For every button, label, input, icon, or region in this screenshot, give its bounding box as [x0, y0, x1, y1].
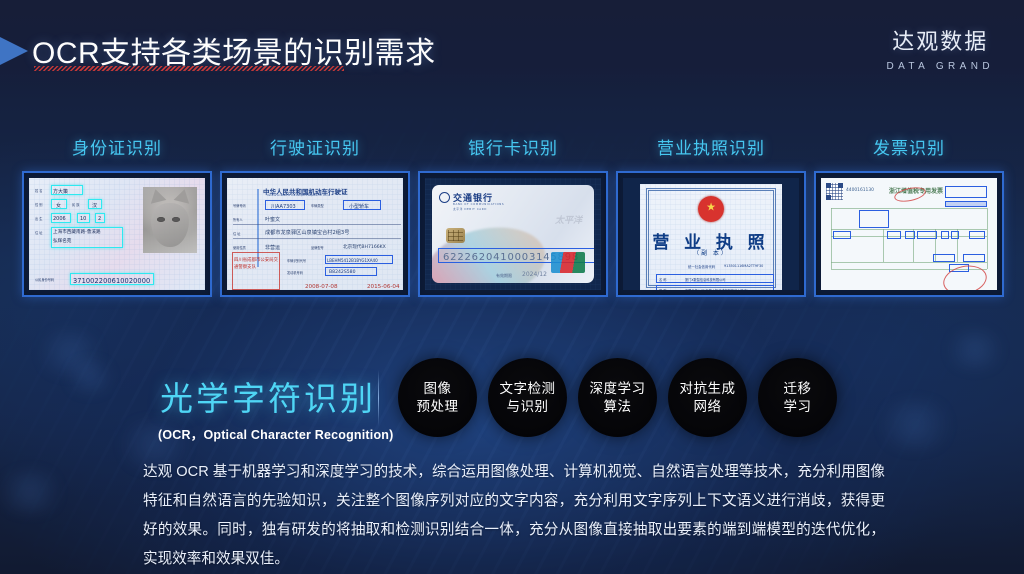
tech-circle-deep-learning[interactable]: 深度学习 算法 [578, 358, 657, 437]
description-paragraph: 达观 OCR 基于机器学习和深度学习的技术，综合运用图像处理、计算机视觉、自然语… [143, 458, 885, 574]
doc-vehicle-license: 中华人民共和国机动车行驶证 Vehicle License of the Peo… [227, 178, 403, 290]
bg-blob [870, 400, 960, 450]
tech-circle-text-detection[interactable]: 文字检测 与识别 [488, 358, 567, 437]
circle-line-2: 学习 [784, 398, 812, 416]
chip-icon [446, 228, 465, 243]
card-brand-art: 太平洋 [555, 213, 582, 226]
circle-line-1: 文字检测 [500, 380, 556, 398]
card-label: 银行卡识别 [418, 134, 608, 160]
card-bank-card[interactable]: 银行卡识别 交通银行 BANK OF COMMUNICATIONS 太平洋 DE… [418, 134, 608, 297]
tech-circle-image-preprocessing[interactable]: 图像 预处理 [398, 358, 477, 437]
slide-canvas: OCR支持各类场景的识别需求 达观数据 DATA GRAND 身份证识别 [0, 0, 1024, 574]
vertical-divider [378, 370, 379, 426]
expiry-value: 2024/12 [522, 271, 547, 278]
card-frame: 营 业 执 照 （副 本） 统一社会信用代码 913501116MA2TT9F3… [616, 171, 806, 297]
card-id-card[interactable]: 身份证识别 姓 名 方大策 性 别 [22, 134, 212, 297]
triangle-marker-icon [0, 36, 28, 66]
tech-circle-gan[interactable]: 对抗生成 网络 [668, 358, 747, 437]
card-frame: 4400161130 浙江增值税专用发票 [814, 171, 1004, 297]
card-label: 行驶证识别 [220, 134, 410, 160]
tech-circle-transfer-learning[interactable]: 迁移 学习 [758, 358, 837, 437]
circle-line-2: 算法 [590, 398, 646, 416]
circle-line-1: 图像 [417, 380, 459, 398]
id-number-value: 371002200610020000 [73, 277, 150, 285]
card-label: 发票识别 [814, 134, 1004, 160]
scenario-cards: 身份证识别 姓 名 方大策 性 别 [0, 134, 1024, 314]
card-business-license[interactable]: 营业执照识别 营 业 执 照 （副 本） 统一社会信用代码 913501116M… [616, 134, 806, 297]
logo-text-en: DATA GRAND [886, 61, 994, 72]
ocr-subtitle: (OCR，Optical Character Recognition) [158, 424, 394, 443]
card-label: 身份证识别 [22, 134, 212, 160]
card-label: 营业执照识别 [616, 134, 806, 160]
card-frame: 交通银行 BANK OF COMMUNICATIONS 太平洋 DEBIT CA… [418, 171, 608, 297]
circle-line-1: 迁移 [784, 380, 812, 398]
reg-code-label: 统一社会信用代码 [688, 264, 715, 269]
tech-circle-list: 图像 预处理 文字检测 与识别 深度学习 算法 对抗生成 网络 迁移 学习 [398, 358, 837, 437]
ocr-title: 光学字符识别 [160, 372, 376, 420]
title-underline [34, 66, 344, 71]
doc-invoice: 4400161130 浙江增值税专用发票 [821, 178, 997, 290]
id-photo [143, 187, 197, 253]
card-vehicle-license[interactable]: 行驶证识别 中华人民共和国机动车行驶证 Vehicle License of t… [220, 134, 410, 297]
bank-logo-icon [439, 192, 450, 203]
qr-code-icon [826, 183, 843, 200]
bg-blob [940, 330, 1010, 370]
card-invoice[interactable]: 发票识别 4400161130 浙江增值税专用发票 [814, 134, 1004, 297]
circle-line-1: 深度学习 [590, 380, 646, 398]
license-subtitle: （副 本） [640, 248, 782, 257]
seal-text: 四川省成都市公安局交通警察支队 [234, 258, 278, 271]
brand-logo: 达观数据 DATA GRAND [886, 24, 994, 72]
doc-title-en: Vehicle License of the People's Republic… [267, 194, 330, 197]
invoice-code: 4400161130 [846, 188, 874, 193]
national-emblem-icon [698, 196, 724, 222]
doc-business-license: 营 业 执 照 （副 本） 统一社会信用代码 913501116MA2TT9F3… [623, 178, 799, 290]
slide-header: OCR支持各类场景的识别需求 达观数据 DATA GRAND [0, 0, 1024, 96]
card-type: 太平洋 DEBIT CARD [453, 207, 487, 211]
bg-blob [60, 360, 120, 394]
doc-bank-card: 交通银行 BANK OF COMMUNICATIONS 太平洋 DEBIT CA… [425, 178, 601, 290]
unionpay-logo-icon [551, 252, 585, 273]
circle-line-1: 对抗生成 [680, 380, 736, 398]
circle-line-2: 网络 [680, 398, 736, 416]
card-frame: 中华人民共和国机动车行驶证 Vehicle License of the Peo… [220, 171, 410, 297]
circle-line-2: 预处理 [417, 398, 459, 416]
logo-text-cn: 达观数据 [886, 24, 994, 56]
circle-line-2: 与识别 [500, 398, 556, 416]
bank-name-en: BANK OF COMMUNICATIONS [453, 202, 504, 206]
expiry-label: 有效期限 [496, 273, 512, 279]
card-frame: 姓 名 方大策 性 别 女 民 族 汉 出 生 2006 10 2 [22, 171, 212, 297]
doc-id-card: 姓 名 方大策 性 别 女 民 族 汉 出 生 2006 10 2 [29, 178, 205, 290]
